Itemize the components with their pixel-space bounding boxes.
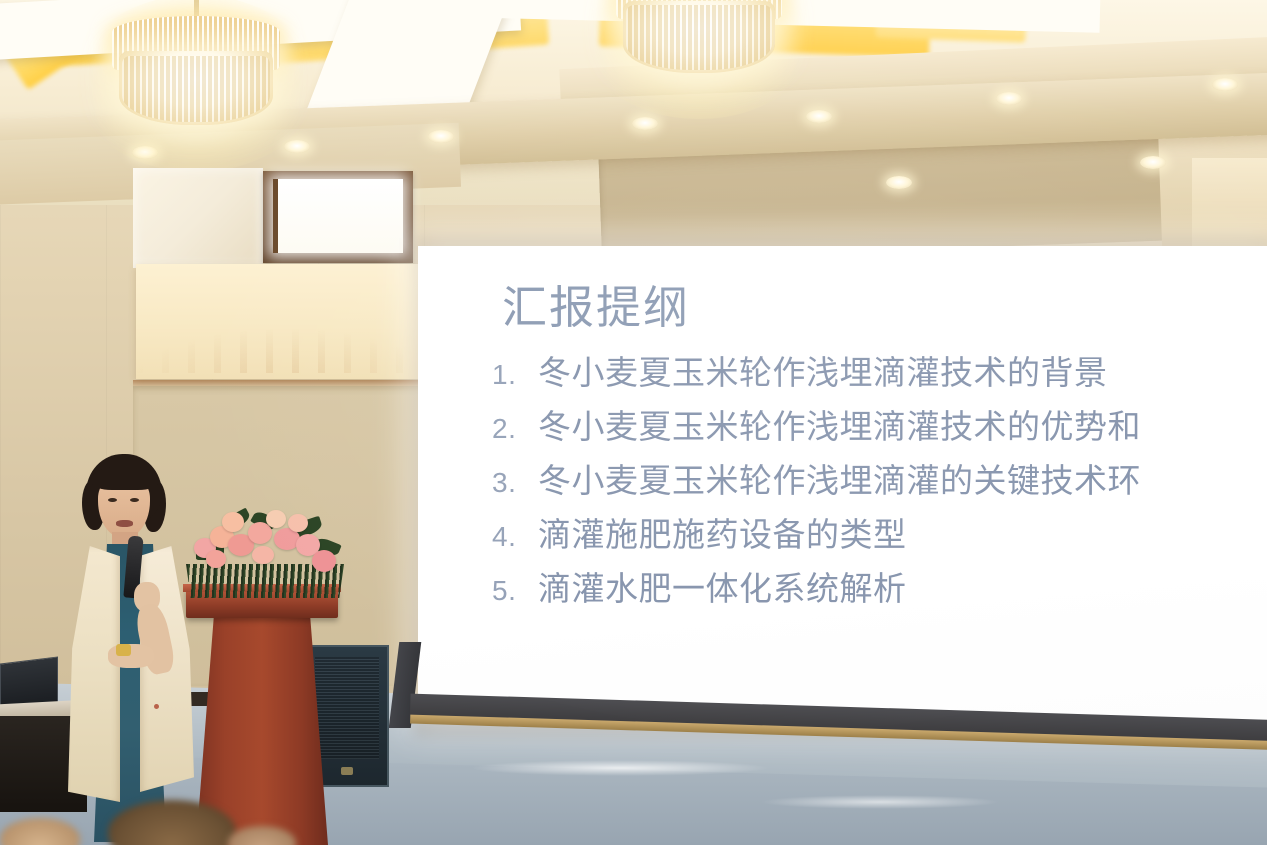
window-frame [263, 171, 413, 263]
flower [312, 550, 336, 572]
eye-right [130, 498, 139, 502]
hair-fringe [92, 466, 158, 490]
downlight [1212, 78, 1238, 91]
list-item-number: 4. [492, 511, 538, 563]
slide-outline-list: 1. 冬小麦夏玉米轮作浅埋滴灌技术的背景 2. 冬小麦夏玉米轮作浅埋滴灌技术的优… [492, 347, 1267, 617]
chandelier-right [616, 0, 782, 82]
list-item-text: 滴灌水肥一体化系统解析 [538, 563, 907, 615]
panel-pattern [136, 329, 434, 373]
chandelier-left [112, 16, 280, 134]
slide-list-item: 5. 滴灌水肥一体化系统解析 [492, 563, 1267, 617]
wristwatch [116, 644, 131, 656]
downlight [428, 130, 454, 143]
list-item-number: 2. [492, 403, 538, 455]
list-item-text: 滴灌施肥施药设备的类型 [538, 509, 907, 561]
downlight [632, 117, 658, 130]
flower [252, 546, 274, 564]
list-item-text: 冬小麦夏玉米轮作浅埋滴灌技术的优势和 [538, 401, 1141, 453]
downlight [886, 176, 912, 189]
list-item-number: 3. [492, 457, 538, 509]
flower-arrangement [192, 504, 342, 578]
hand-lower [108, 644, 154, 668]
chandelier-ribs [626, 5, 772, 70]
slide-list-item: 4. 滴灌施肥施药设备的类型 [492, 509, 1267, 563]
slide-list-item: 2. 冬小麦夏玉米轮作浅埋滴灌技术的优势和 [492, 401, 1267, 455]
projection-screen: 汇报提纲 1. 冬小麦夏玉米轮作浅埋滴灌技术的背景 2. 冬小麦夏玉米轮作浅埋滴… [418, 246, 1267, 720]
flower [222, 512, 244, 532]
floor-reflection [760, 795, 1000, 809]
window-glass [273, 179, 403, 253]
presenter [56, 454, 208, 845]
list-item-text: 冬小麦夏玉米轮作浅埋滴灌的关键技术环 [538, 455, 1141, 507]
jacket-left-panel [68, 546, 120, 802]
presentation-slide: 汇报提纲 1. 冬小麦夏玉米轮作浅埋滴灌技术的背景 2. 冬小麦夏玉米轮作浅埋滴… [418, 246, 1267, 720]
flower [206, 550, 226, 568]
window-mullion [273, 179, 278, 253]
list-item-number: 1. [492, 349, 538, 401]
flower [266, 510, 286, 528]
downlight [806, 110, 832, 123]
slide-title: 汇报提纲 [502, 271, 690, 336]
slide-list-item: 1. 冬小麦夏玉米轮作浅埋滴灌技术的背景 [492, 347, 1267, 401]
conference-presentation-photo: 汇报提纲 1. 冬小麦夏玉米轮作浅埋滴灌技术的背景 2. 冬小麦夏玉米轮作浅埋滴… [0, 0, 1267, 845]
decorative-wall-panel [136, 264, 434, 379]
slide-list-item: 3. 冬小麦夏玉米轮作浅埋滴灌的关键技术环 [492, 455, 1267, 509]
list-item-number: 5. [492, 565, 538, 617]
glass-partition [133, 168, 263, 268]
jacket-button [154, 704, 159, 709]
speaker-connector [341, 767, 353, 775]
downlight [132, 146, 158, 159]
floor-reflection [470, 760, 770, 776]
list-item-text: 冬小麦夏玉米轮作浅埋滴灌技术的背景 [538, 347, 1108, 399]
downlight [284, 140, 310, 153]
downlight [996, 92, 1022, 105]
downlight [1140, 156, 1166, 169]
chandelier-ribs [122, 56, 270, 122]
eye-left [108, 498, 117, 502]
flower [288, 514, 308, 532]
mouth [116, 520, 133, 527]
